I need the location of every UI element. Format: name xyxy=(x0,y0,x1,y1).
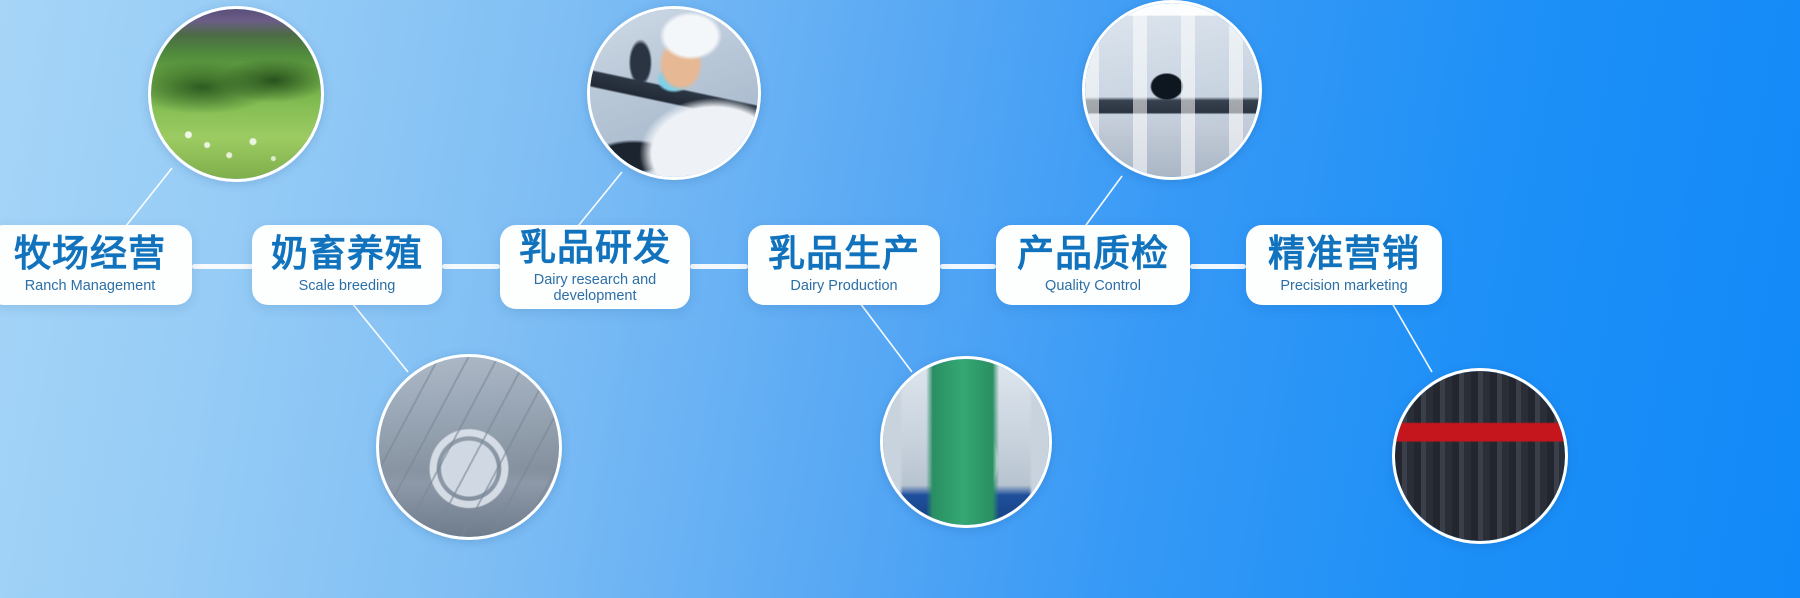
quality-lab-image xyxy=(1085,3,1259,177)
bottling-image xyxy=(379,357,559,537)
photo-company-group xyxy=(1392,368,1568,544)
card-connector-5-6 xyxy=(1190,264,1246,269)
photo-pasture-grassland xyxy=(148,6,324,182)
card-connector-2-3 xyxy=(442,264,500,269)
step-title-en: Dairy Production xyxy=(790,278,897,294)
photo-bottling-carousel xyxy=(376,354,562,540)
step-card-quality-control[interactable]: 产品质检 Quality Control xyxy=(996,225,1190,305)
step-title-cn: 牧场经营 xyxy=(14,234,166,274)
step-title-cn: 奶畜养殖 xyxy=(271,234,423,274)
step-title-cn: 乳品研发 xyxy=(519,228,671,268)
group-photo-image xyxy=(1395,371,1565,541)
photo-lab-microscope xyxy=(587,6,761,180)
step-title-cn: 产品质检 xyxy=(1017,234,1169,274)
step-title-en: Quality Control xyxy=(1045,278,1141,294)
leader-line-breeding xyxy=(352,303,408,372)
step-card-dairy-rd[interactable]: 乳品研发 Dairy research and development xyxy=(500,225,690,309)
industry-chain-banner: 牧场经营 Ranch Management 奶畜养殖 Scale breedin… xyxy=(0,0,1800,598)
leader-line-marketing xyxy=(1392,303,1432,372)
step-title-en: Ranch Management xyxy=(25,278,156,294)
leader-line-production xyxy=(860,303,912,372)
card-connector-1-2 xyxy=(192,264,254,269)
pasture-image xyxy=(151,9,321,179)
step-title-en: Dairy research and development xyxy=(534,272,657,304)
step-card-dairy-production[interactable]: 乳品生产 Dairy Production xyxy=(748,225,940,305)
step-card-precision-marketing[interactable]: 精准营销 Precision marketing xyxy=(1246,225,1442,305)
card-connector-3-4 xyxy=(690,264,748,269)
microscope-image xyxy=(590,9,758,177)
step-title-cn: 乳品生产 xyxy=(768,234,920,274)
step-title-cn: 精准营销 xyxy=(1268,234,1420,274)
filling-line-image xyxy=(883,359,1049,525)
step-card-ranch-management[interactable]: 牧场经营 Ranch Management xyxy=(0,225,192,305)
card-connector-4-5 xyxy=(940,264,996,269)
photo-quality-lab xyxy=(1082,0,1262,180)
step-card-scale-breeding[interactable]: 奶畜养殖 Scale breeding xyxy=(252,225,442,305)
step-title-en: Scale breeding xyxy=(299,278,396,294)
photo-filling-line xyxy=(880,356,1052,528)
step-title-en: Precision marketing xyxy=(1280,278,1407,294)
